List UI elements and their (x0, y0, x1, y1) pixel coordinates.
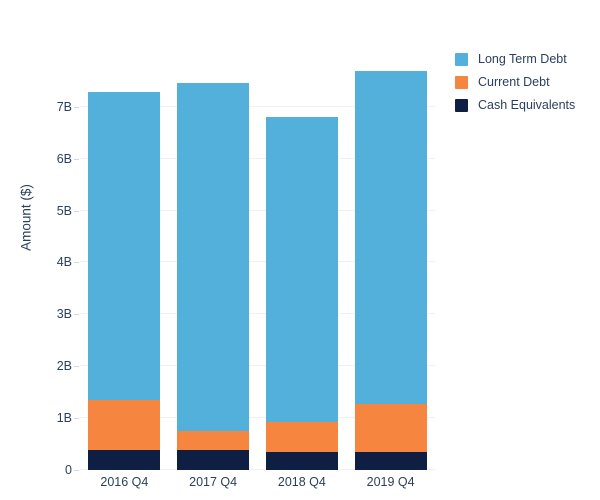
chart-container: Amount ($) 01B2B3B4B5B6B7B 2016 Q42017 Q… (0, 0, 600, 500)
legend-label: Cash Equivalents (478, 98, 575, 112)
bar-segment[interactable] (266, 117, 338, 422)
bar-group[interactable] (177, 60, 249, 470)
legend-swatch-icon (455, 76, 468, 89)
y-tick-label: 7B (16, 101, 72, 113)
legend-label: Current Debt (478, 75, 550, 89)
chart-title (0, 0, 600, 6)
plot-area (80, 60, 435, 470)
bar-segment[interactable] (177, 83, 249, 430)
legend-swatch-icon (455, 53, 468, 66)
bar-segment[interactable] (355, 404, 427, 452)
legend-item[interactable]: Current Debt (455, 71, 595, 93)
bar-segment[interactable] (88, 450, 160, 470)
bar-segment[interactable] (88, 400, 160, 450)
y-tick-mark (74, 418, 79, 419)
bar-segment[interactable] (177, 431, 249, 450)
y-tick-mark (74, 107, 79, 108)
bar-segment[interactable] (355, 71, 427, 404)
legend-label: Long Term Debt (478, 52, 567, 66)
bar-segment[interactable] (177, 450, 249, 470)
legend-item[interactable]: Cash Equivalents (455, 94, 595, 116)
y-tick-mark (74, 470, 79, 471)
bar-segment[interactable] (88, 92, 160, 400)
legend-item[interactable]: Long Term Debt (455, 48, 595, 70)
y-tick-mark (74, 314, 79, 315)
bar-segment[interactable] (266, 452, 338, 470)
legend: Long Term DebtCurrent DebtCash Equivalen… (455, 48, 595, 117)
y-tick-label: 2B (16, 360, 72, 372)
legend-swatch-icon (455, 99, 468, 112)
y-tick-mark (74, 159, 79, 160)
bar-group[interactable] (266, 60, 338, 470)
y-tick-label: 1B (16, 412, 72, 424)
y-tick-label: 0 (16, 464, 72, 476)
y-tick-label: 3B (16, 308, 72, 320)
y-tick-mark (74, 211, 79, 212)
bar-segment[interactable] (266, 422, 338, 452)
y-tick-mark (74, 262, 79, 263)
x-tick-label: 2019 Q4 (336, 475, 446, 489)
y-tick-mark (74, 366, 79, 367)
bar-segment[interactable] (355, 452, 427, 470)
y-axis-title: Amount ($) (19, 148, 34, 288)
bar-group[interactable] (88, 60, 160, 470)
bar-group[interactable] (355, 60, 427, 470)
